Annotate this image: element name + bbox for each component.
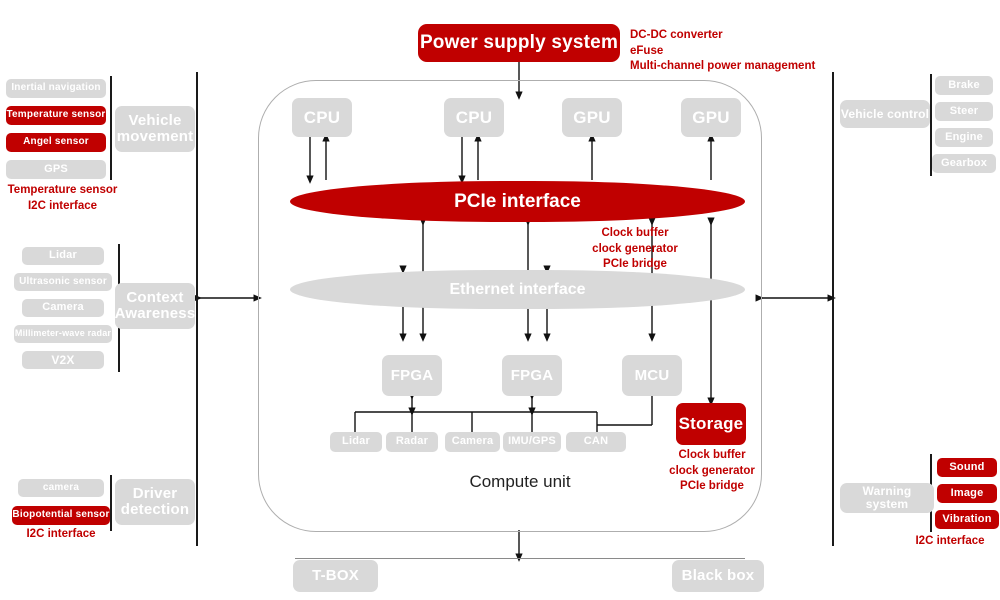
storage-note: Clock buffer clock generator PCIe bridge	[646, 448, 778, 495]
accelerator-label: MCU	[635, 368, 670, 384]
sensor-label: Ultrasonic sensor	[19, 277, 107, 288]
sensor-millimeter-wave-radar[interactable]: Millimeter-wave radar	[14, 325, 112, 343]
sensor-driver-camera[interactable]: camera	[18, 479, 104, 497]
bracket-right-main	[832, 72, 834, 546]
interface-label: Radar	[396, 436, 428, 448]
warning-system-note: I2C interface	[900, 534, 1000, 550]
actuator-label: Steer	[950, 106, 979, 118]
bottom-black-box[interactable]: Black box	[672, 560, 764, 592]
sensor-inertial-navigation[interactable]: Inertial navigation	[6, 79, 106, 98]
bottom-label: T-BOX	[312, 568, 359, 584]
sensor-label: GPS	[44, 164, 68, 176]
sensor-label: camera	[43, 483, 79, 494]
processor-label: GPU	[573, 109, 610, 127]
interface-label: Camera	[452, 436, 494, 448]
processor-label: GPU	[692, 109, 729, 127]
processor-label: CPU	[304, 109, 341, 127]
accelerator-label: FPGA	[511, 368, 553, 384]
actuator-label: Brake	[948, 80, 980, 92]
warning-image[interactable]: Image	[937, 484, 997, 503]
warning-label: Vibration	[942, 514, 991, 526]
accelerator-mcu[interactable]: MCU	[622, 355, 682, 396]
accelerator-fpga-1[interactable]: FPGA	[382, 355, 442, 396]
pcie-note: Clock buffer clock generator PCIe bridge	[545, 226, 725, 273]
sensor-label: Biopotential sensor	[12, 510, 109, 521]
sensor-label: Lidar	[49, 250, 77, 262]
actuator-brake[interactable]: Brake	[935, 76, 993, 95]
actuator-label: Engine	[945, 132, 983, 144]
interface-lidar[interactable]: Lidar	[330, 432, 382, 452]
sensor-label: Millimeter-wave radar	[15, 329, 111, 338]
sensor-ultrasonic[interactable]: Ultrasonic sensor	[14, 273, 112, 291]
power-supply-note: DC-DC converter eFuse Multi-channel powe…	[630, 28, 860, 75]
storage-label: Storage	[679, 415, 744, 433]
interface-camera[interactable]: Camera	[445, 432, 500, 452]
group-label: Driver detection	[115, 486, 195, 518]
group-label: Warning system	[840, 485, 934, 510]
processor-gpu-2[interactable]: GPU	[681, 98, 741, 137]
diagram-canvas: Power supply system DC-DC converter eFus…	[0, 0, 1000, 600]
sensor-label: V2X	[51, 354, 74, 367]
group-driver-detection[interactable]: Driver detection	[115, 479, 195, 525]
actuator-engine[interactable]: Engine	[935, 128, 993, 147]
processor-cpu-2[interactable]: CPU	[444, 98, 504, 137]
warning-sound[interactable]: Sound	[937, 458, 997, 477]
sensor-label: Temperature sensor	[6, 110, 105, 121]
storage-block[interactable]: Storage	[676, 403, 746, 445]
sensor-v2x[interactable]: V2X	[22, 351, 104, 369]
group-context-awareness[interactable]: Context Awareness	[115, 283, 195, 329]
processor-label: CPU	[456, 109, 493, 127]
interface-imu-gps[interactable]: IMU/GPS	[503, 432, 561, 452]
sensor-label: Camera	[42, 302, 84, 314]
ethernet-bus-label: Ethernet interface	[449, 281, 585, 299]
group-label: Vehicle movement	[113, 113, 198, 145]
actuator-gearbox[interactable]: Gearbox	[932, 154, 996, 173]
pcie-bus-label: PCIe interface	[454, 191, 581, 213]
warning-label: Image	[951, 488, 984, 500]
warning-vibration[interactable]: Vibration	[935, 510, 999, 529]
power-supply-block[interactable]: Power supply system	[418, 24, 620, 62]
interface-can[interactable]: CAN	[566, 432, 626, 452]
group-label: Context Awareness	[111, 290, 200, 322]
accelerator-fpga-2[interactable]: FPGA	[502, 355, 562, 396]
sensor-camera[interactable]: Camera	[22, 299, 104, 317]
bottom-label: Black box	[682, 568, 755, 584]
sensor-lidar[interactable]: Lidar	[22, 247, 104, 265]
bottom-tbox[interactable]: T-BOX	[293, 560, 378, 592]
actuator-steer[interactable]: Steer	[935, 102, 993, 121]
actuator-label: Gearbox	[941, 158, 987, 170]
sensor-gps[interactable]: GPS	[6, 160, 106, 179]
driver-detection-note: I2C interface	[0, 527, 122, 543]
pcie-interface-bus[interactable]: PCIe interface	[290, 181, 745, 222]
power-supply-label: Power supply system	[420, 33, 618, 53]
processor-cpu-1[interactable]: CPU	[292, 98, 352, 137]
interface-radar[interactable]: Radar	[386, 432, 438, 452]
vehicle-movement-note: Temperature sensor I2C interface	[0, 183, 125, 214]
interface-label: CAN	[584, 436, 608, 448]
sensor-angel[interactable]: Angel sensor	[6, 133, 106, 152]
interface-label: Lidar	[342, 436, 370, 448]
sensor-label: Inertial navigation	[11, 83, 100, 94]
group-label: Vehicle control	[841, 108, 929, 121]
group-vehicle-movement[interactable]: Vehicle movement	[115, 106, 195, 152]
interface-label: IMU/GPS	[508, 436, 556, 448]
bracket-driver-detection	[110, 475, 112, 531]
warning-label: Sound	[949, 462, 984, 474]
compute-unit-label: Compute unit	[430, 472, 610, 492]
sensor-temperature[interactable]: Temperature sensor	[6, 106, 106, 125]
ethernet-interface-bus[interactable]: Ethernet interface	[290, 270, 745, 309]
processor-gpu-1[interactable]: GPU	[562, 98, 622, 137]
group-vehicle-control[interactable]: Vehicle control	[840, 100, 930, 128]
sensor-biopotential[interactable]: Biopotential sensor	[12, 506, 110, 525]
sensor-label: Angel sensor	[23, 137, 89, 148]
group-warning-system[interactable]: Warning system	[840, 483, 934, 513]
accelerator-label: FPGA	[391, 368, 433, 384]
bracket-vehicle-movement	[110, 76, 112, 180]
